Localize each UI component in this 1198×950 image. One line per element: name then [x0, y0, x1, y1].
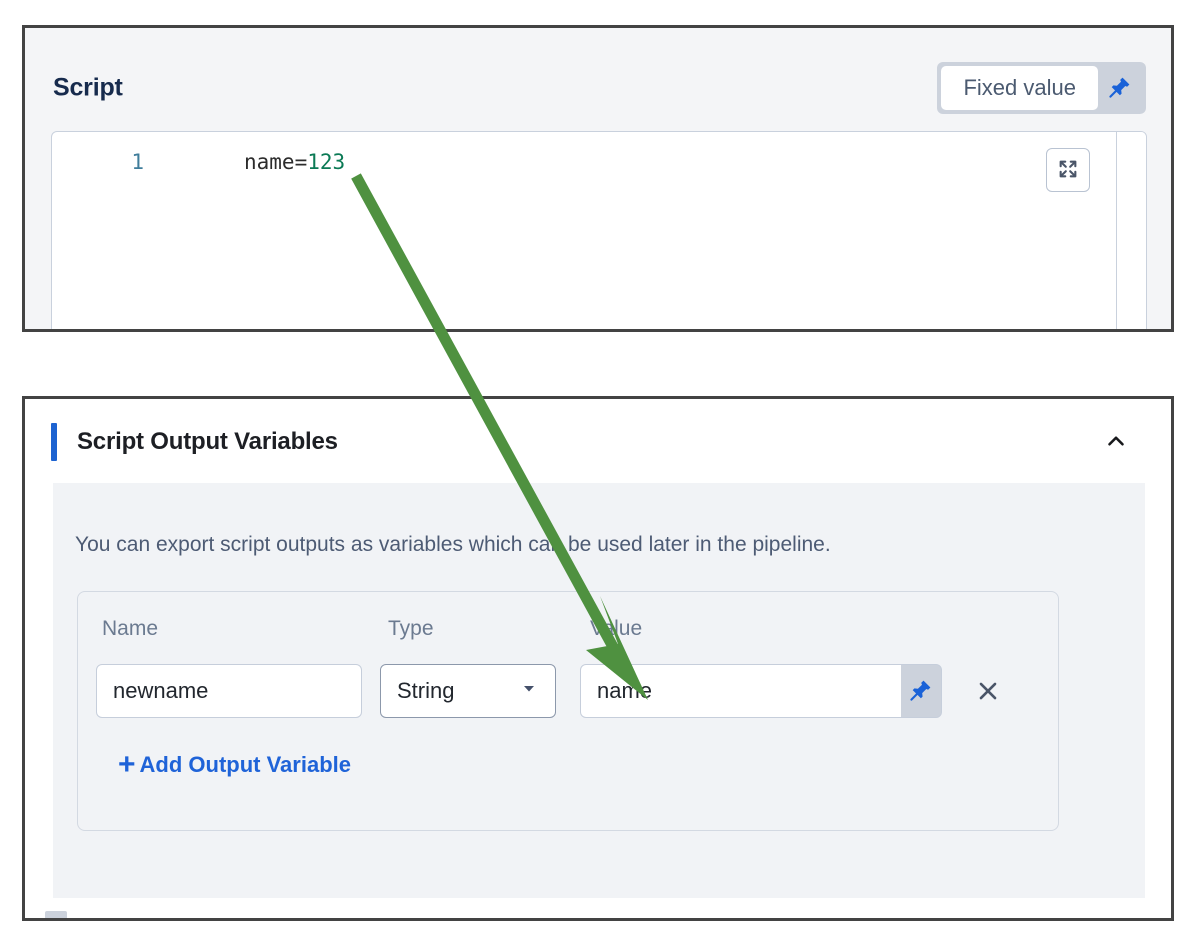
code-line-1: 1 name=123 — [52, 145, 1146, 179]
output-variables-body: You can export script outputs as variabl… — [53, 483, 1145, 898]
screenshot-root: Script Fixed value 1 name=123 — [0, 0, 1198, 950]
remove-variable-button[interactable] — [968, 672, 1008, 712]
fixed-value-button[interactable]: Fixed value — [941, 66, 1098, 110]
plus-icon: + — [118, 750, 136, 780]
table-row: String — [78, 664, 1058, 720]
section-description: You can export script outputs as variabl… — [75, 533, 831, 557]
script-panel-header: Script Fixed value — [25, 28, 1171, 120]
column-header-value: Value — [590, 617, 642, 641]
variable-name-input[interactable] — [96, 664, 362, 718]
column-headers: Name Type Value — [78, 617, 1058, 647]
script-panel: Script Fixed value 1 name=123 — [22, 25, 1174, 332]
page-title: Script — [53, 74, 123, 103]
variable-value-group — [580, 664, 942, 718]
line-number: 1 — [52, 150, 144, 174]
code-token-name: name= — [244, 150, 307, 174]
chevron-up-icon — [1103, 428, 1129, 457]
script-output-variables-panel: Script Output Variables You can export s… — [22, 396, 1174, 921]
code-content[interactable]: name=123 — [244, 150, 345, 174]
add-output-variable-button[interactable]: + Add Output Variable — [118, 750, 351, 780]
fixed-value-control-group: Fixed value — [937, 62, 1146, 114]
variable-value-input[interactable] — [581, 665, 901, 717]
collapse-section-button[interactable] — [1099, 425, 1133, 459]
variable-type-selected-value: String — [397, 678, 454, 704]
close-icon — [975, 678, 1001, 707]
chevron-down-icon — [521, 681, 537, 702]
expand-icon — [1057, 158, 1079, 183]
code-editor[interactable]: 1 name=123 — [51, 131, 1147, 331]
pin-button-script[interactable] — [1098, 66, 1142, 110]
partially-visible-element — [45, 911, 67, 919]
variables-card: Name Type Value String — [77, 591, 1059, 831]
code-token-number: 123 — [307, 150, 345, 174]
section-accent-bar — [51, 423, 57, 461]
output-variables-header: Script Output Variables — [25, 399, 1171, 483]
expand-button[interactable] — [1046, 148, 1090, 192]
section-title: Script Output Variables — [77, 428, 338, 456]
column-header-name: Name — [102, 617, 158, 641]
pin-icon — [1108, 75, 1132, 102]
column-header-type: Type — [388, 617, 434, 641]
pin-button-value[interactable] — [901, 665, 941, 717]
add-output-variable-label: Add Output Variable — [140, 752, 351, 778]
variable-type-select[interactable]: String — [380, 664, 556, 718]
editor-scrollbar[interactable] — [1116, 132, 1146, 330]
pin-icon — [909, 678, 933, 705]
